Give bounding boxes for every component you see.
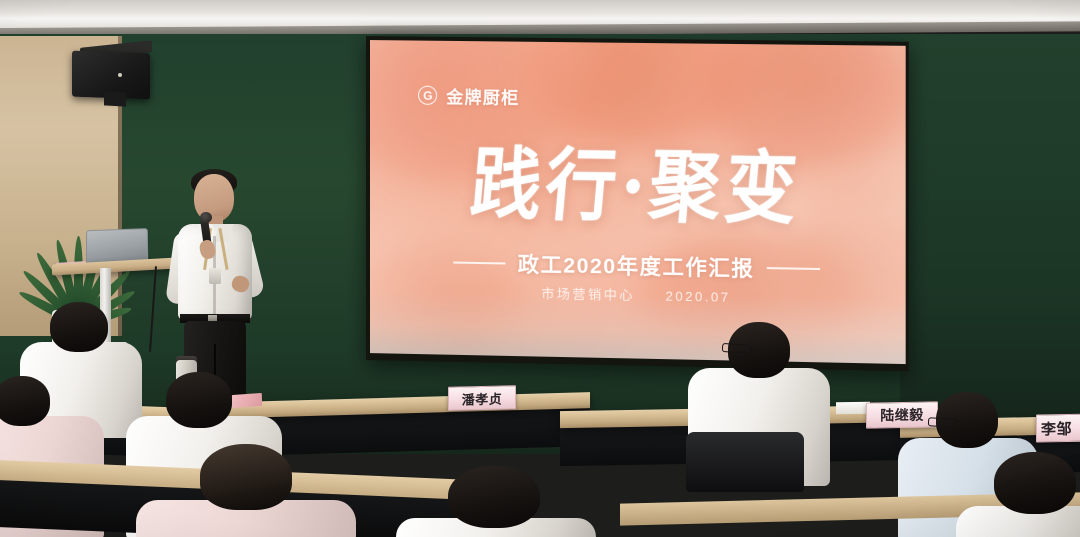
slide-brand-lockup: G 金牌厨柜: [418, 83, 519, 109]
speaker-mount: [104, 91, 126, 106]
audience-head: [448, 466, 540, 528]
g-logo-circle-icon: G: [418, 86, 437, 105]
audience-head: [994, 452, 1076, 514]
slide-title: 践行·聚变: [370, 120, 906, 242]
presenter: [160, 166, 280, 386]
office-chair: [686, 432, 804, 492]
slide-department: 市场营销中心: [541, 286, 635, 303]
projection-screen: G 金牌厨柜 践行·聚变 政工2020年度工作汇报 市场营销中心 2020.07: [366, 36, 909, 371]
slide-meta: 市场营销中心 2020.07: [370, 280, 906, 309]
audience-member: [136, 444, 356, 537]
lanyard-badge: [209, 268, 221, 284]
paper-sheet: [836, 402, 870, 415]
audience-member: [956, 452, 1080, 537]
slide-date: 2020.07: [665, 288, 730, 304]
audience-head: [0, 376, 50, 426]
rule-left: [453, 262, 505, 264]
rule-right: [767, 267, 820, 269]
slide-surface: G 金牌厨柜 践行·聚变 政工2020年度工作汇报 市场营销中心 2020.07: [370, 40, 906, 364]
audience-head: [166, 372, 232, 428]
right-wall-green: [900, 34, 1080, 454]
slide-subtitle: 政工2020年度工作汇报: [518, 249, 755, 283]
slide-subtitle-row: 政工2020年度工作汇报: [370, 246, 906, 286]
audience-head: [200, 444, 292, 510]
name-placard: 潘孝贞: [448, 385, 516, 411]
microphone-head: [200, 212, 212, 223]
meeting-room-photo: G 金牌厨柜 践行·聚变 政工2020年度工作汇报 市场营销中心 2020.07: [0, 0, 1080, 537]
eyeglasses-icon: [928, 417, 958, 428]
brand-name: 金牌厨柜: [446, 83, 519, 109]
speaker-indicator-light: [118, 73, 122, 77]
audience-member: [396, 466, 596, 537]
name-placard: 李邹: [1036, 413, 1080, 442]
audience-head: [50, 302, 108, 352]
